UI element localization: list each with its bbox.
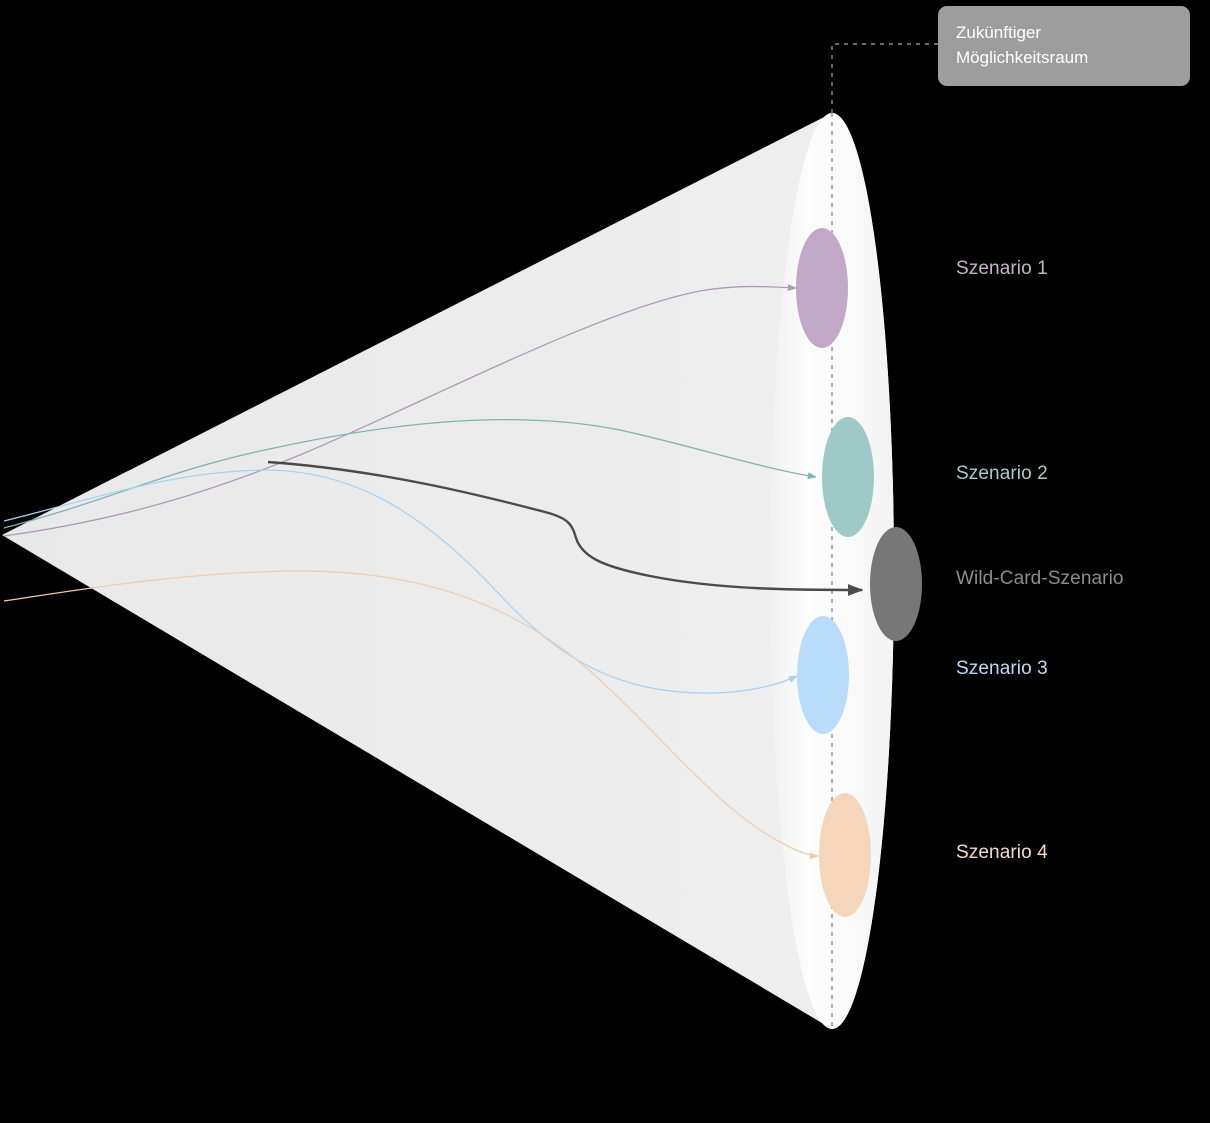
node-wild-card-szenario[interactable]	[870, 527, 922, 641]
node-szenario-2[interactable]	[822, 417, 874, 537]
diagram-canvas: Zukünftiger Möglichkeitsraum Szenario 1 …	[0, 0, 1210, 1123]
label-szenario-4: Szenario 4	[956, 842, 1048, 864]
callout-line-1: Zukünftiger	[956, 20, 1190, 45]
node-szenario-1[interactable]	[796, 228, 848, 348]
node-szenario-4[interactable]	[819, 793, 871, 917]
future-possibility-space-callout[interactable]: Zukünftiger Möglichkeitsraum	[938, 6, 1190, 86]
tooltip-connector-line	[832, 44, 938, 115]
cone-diagram-svg	[0, 0, 1210, 1123]
cone-body	[2, 113, 894, 1029]
label-wild-card-szenario: Wild-Card-Szenario	[956, 568, 1124, 590]
callout-line-2: Möglichkeitsraum	[956, 45, 1190, 70]
label-szenario-1: Szenario 1	[956, 258, 1048, 280]
label-szenario-3: Szenario 3	[956, 658, 1048, 680]
node-szenario-3[interactable]	[797, 616, 849, 734]
label-szenario-2: Szenario 2	[956, 463, 1048, 485]
